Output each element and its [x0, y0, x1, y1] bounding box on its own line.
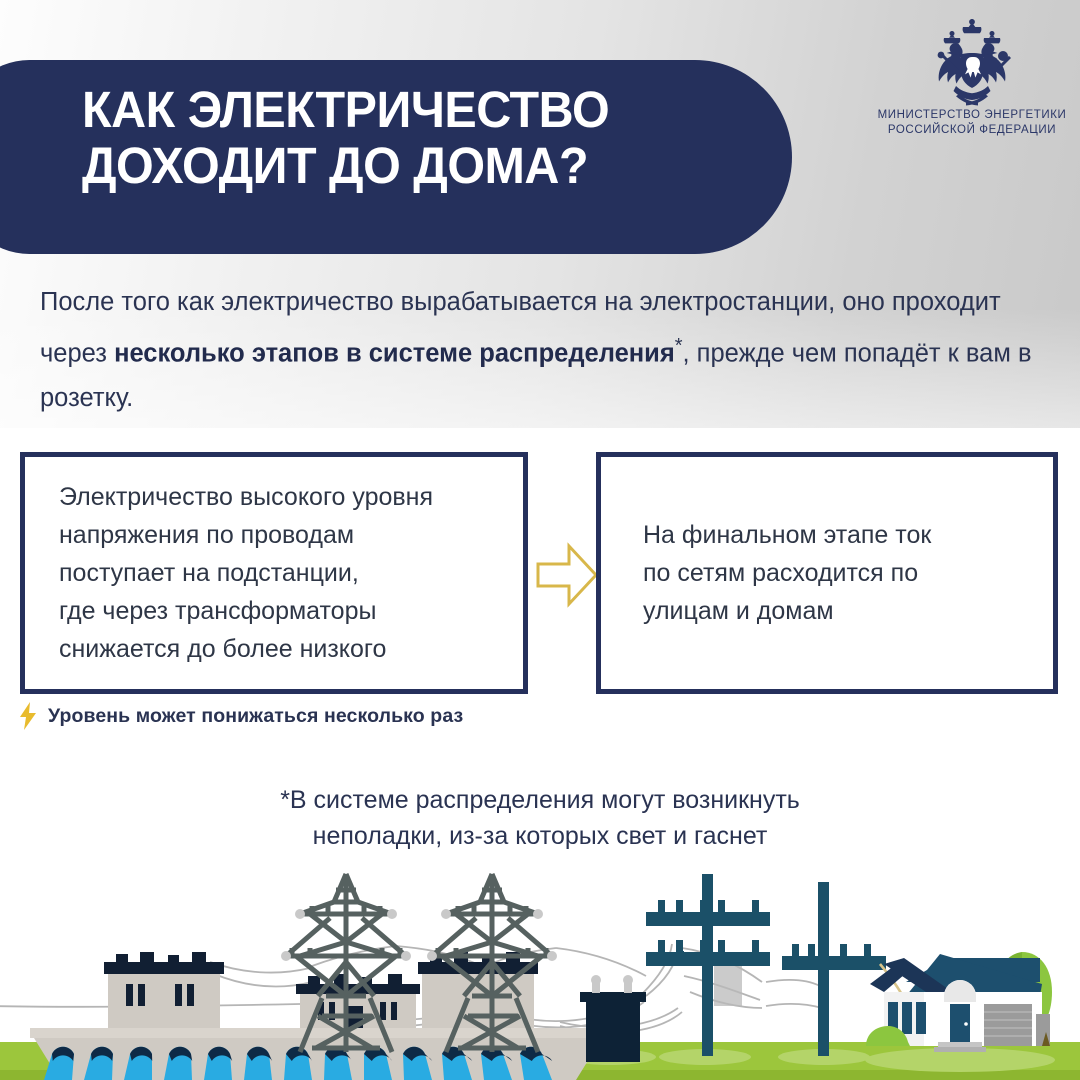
ministry-logo-line-2: Российской Федерации — [876, 123, 1068, 138]
card-high-voltage-stage: Электричество высокого уровня напряжения… — [20, 452, 528, 694]
note-text: Уровень может понижаться несколько раз — [48, 705, 463, 728]
card-final-distribution-stage: На финальном этапе ток по сетям расходит… — [596, 452, 1058, 694]
lightning-bolt-icon — [18, 702, 38, 730]
power-delivery-illustration — [0, 856, 1080, 1080]
ministry-logo-line-1: Министерство энергетики — [876, 108, 1068, 123]
footnote-text: *В системе распределения могут возникнут… — [0, 782, 1080, 854]
house — [866, 954, 1050, 1052]
page-title: КАК ЭЛЕКТРИЧЕСТВО ДОХОДИТ ДО ДОМА? — [82, 82, 709, 194]
russian-coat-of-arms-icon — [929, 16, 1015, 108]
intro-asterisk: * — [675, 335, 683, 357]
intro-text-bold: несколько этапов в системе распределения — [114, 340, 675, 368]
right-arrow-icon — [536, 542, 598, 608]
card-right-text: На финальном этапе ток по сетям расходит… — [601, 516, 957, 630]
note-voltage-reduction: Уровень может понижаться несколько раз — [18, 702, 463, 730]
intro-paragraph: После того как электричество вырабатывае… — [40, 280, 1050, 420]
infographic-page: КАК ЭЛЕКТРИЧЕСТВО ДОХОДИТ ДО ДОМА? — [0, 0, 1080, 1080]
ministry-logo: Министерство энергетики Российской Федер… — [876, 16, 1068, 138]
card-left-text: Электричество высокого уровня напряжения… — [25, 478, 459, 668]
